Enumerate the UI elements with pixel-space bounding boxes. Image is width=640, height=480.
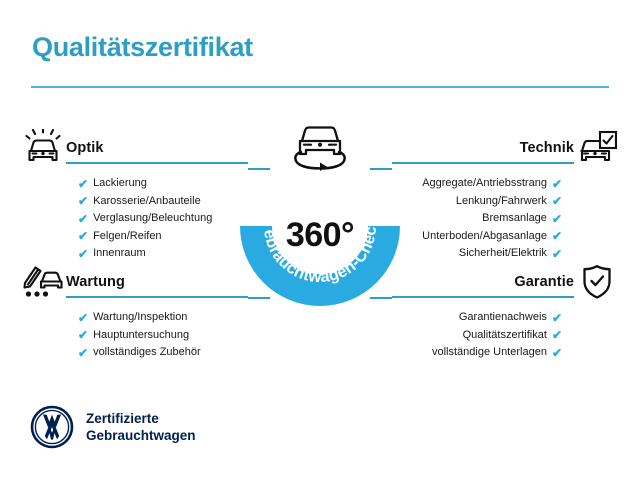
check-icon: ✔ <box>552 213 562 225</box>
list-item: Lenkung/Fahrwerk✔ <box>392 193 562 211</box>
list-item-label: Hauptuntersuchung <box>93 327 189 345</box>
list-item: Sicherheit/Elektrik✔ <box>392 245 562 263</box>
check-icon: ✔ <box>552 312 562 324</box>
car-checkbox-icon <box>574 128 620 168</box>
list-item: Unterboden/Abgasanlage✔ <box>392 228 562 246</box>
check-icon: ✔ <box>552 347 562 359</box>
check-icon: ✔ <box>78 178 88 190</box>
section-garantie-header: Garantie <box>392 262 620 302</box>
check-icon: ✔ <box>552 178 562 190</box>
check-icon: ✔ <box>552 248 562 260</box>
section-wartung-header: Wartung <box>20 262 248 302</box>
section-garantie-title-wrap: Garantie <box>392 262 574 298</box>
section-wartung: Wartung ✔Wartung/Inspektion ✔Hauptunters… <box>20 262 248 362</box>
list-item-label: Garantienachweis <box>459 309 547 327</box>
list-item: ✔vollständiges Zubehör <box>78 344 248 362</box>
check-icon: ✔ <box>78 329 88 341</box>
footer-line-2: Gebrauchtwagen <box>86 427 196 444</box>
section-technik-list: Aggregate/Antriebsstrang✔ Lenkung/Fahrwe… <box>392 175 620 263</box>
section-optik-header: Optik <box>20 128 248 168</box>
check-icon: ✔ <box>78 248 88 260</box>
car-shine-icon <box>20 128 66 168</box>
check-icon: ✔ <box>78 312 88 324</box>
list-item: ✔Innenraum <box>78 245 248 263</box>
check-icon: ✔ <box>552 195 562 207</box>
section-divider <box>392 162 574 164</box>
list-item: Aggregate/Antriebsstrang✔ <box>392 175 562 193</box>
list-item-label: Bremsanlage <box>482 210 547 228</box>
list-item-label: Karosserie/Anbauteile <box>93 193 201 211</box>
list-item-label: Qualitätszertifikat <box>463 327 547 345</box>
section-wartung-title-wrap: Wartung <box>66 262 248 298</box>
list-item: vollständige Unterlagen✔ <box>392 344 562 362</box>
footer-text: Zertifizierte Gebrauchtwagen <box>86 410 196 444</box>
section-divider <box>66 162 248 164</box>
list-item: Garantienachweis✔ <box>392 309 562 327</box>
title-divider <box>31 86 609 88</box>
list-item-label: vollständige Unterlagen <box>432 344 547 362</box>
shield-check-icon <box>574 262 620 302</box>
footer-line-1: Zertifizierte <box>86 410 196 427</box>
section-optik: Optik ✔Lackierung ✔Karosserie/Anbauteile… <box>20 128 248 263</box>
vw-logo <box>30 405 74 449</box>
list-item: Bremsanlage✔ <box>392 210 562 228</box>
section-divider <box>392 296 574 298</box>
list-item-label: Aggregate/Antriebsstrang <box>422 175 547 193</box>
list-item-label: Felgen/Reifen <box>93 228 162 246</box>
badge-360-gebrauchtwagen-check: Gebrauchtwagen-Check 360° <box>240 118 400 308</box>
list-item-label: Lackierung <box>93 175 147 193</box>
section-technik-header: Technik <box>392 128 620 168</box>
check-icon: ✔ <box>78 230 88 242</box>
list-item-label: Wartung/Inspektion <box>93 309 187 327</box>
check-icon: ✔ <box>78 347 88 359</box>
list-item-label: vollständiges Zubehör <box>93 344 201 362</box>
section-divider <box>66 296 248 298</box>
badge-center-label: 360° <box>240 216 400 255</box>
list-item-label: Lenkung/Fahrwerk <box>456 193 547 211</box>
section-title: Optik <box>66 140 248 157</box>
list-item: ✔Felgen/Reifen <box>78 228 248 246</box>
section-technik: Technik Aggregate/Antriebsstrang✔ Lenkun… <box>392 128 620 263</box>
section-title: Wartung <box>66 274 248 291</box>
section-optik-list: ✔Lackierung ✔Karosserie/Anbauteile ✔Verg… <box>20 175 248 263</box>
list-item: ✔Lackierung <box>78 175 248 193</box>
list-item: Qualitätszertifikat✔ <box>392 327 562 345</box>
section-optik-title-wrap: Optik <box>66 128 248 164</box>
check-icon: ✔ <box>552 230 562 242</box>
list-item: ✔Hauptuntersuchung <box>78 327 248 345</box>
page-title: Qualitätszertifikat <box>32 32 253 63</box>
list-item: ✔Karosserie/Anbauteile <box>78 193 248 211</box>
check-icon: ✔ <box>78 195 88 207</box>
footer-brand: Zertifizierte Gebrauchtwagen <box>30 405 196 449</box>
section-wartung-list: ✔Wartung/Inspektion ✔Hauptuntersuchung ✔… <box>20 309 248 362</box>
list-item-label: Sicherheit/Elektrik <box>459 245 547 263</box>
list-item-label: Innenraum <box>93 245 146 263</box>
car-rotate-icon <box>284 118 356 178</box>
list-item: ✔Wartung/Inspektion <box>78 309 248 327</box>
section-title: Technik <box>392 140 574 157</box>
list-item-label: Unterboden/Abgasanlage <box>422 228 547 246</box>
certificate-page: Qualitätszertifikat <box>0 0 640 480</box>
section-garantie-list: Garantienachweis✔ Qualitätszertifikat✔ v… <box>392 309 620 362</box>
list-item: ✔Verglasung/Beleuchtung <box>78 210 248 228</box>
check-icon: ✔ <box>78 213 88 225</box>
list-item-label: Verglasung/Beleuchtung <box>93 210 212 228</box>
section-garantie: Garantie Garantienachweis✔ Qualitätszert… <box>392 262 620 362</box>
section-title: Garantie <box>392 274 574 291</box>
check-icon: ✔ <box>552 329 562 341</box>
pencil-car-icon <box>20 262 66 302</box>
section-technik-title-wrap: Technik <box>392 128 574 164</box>
